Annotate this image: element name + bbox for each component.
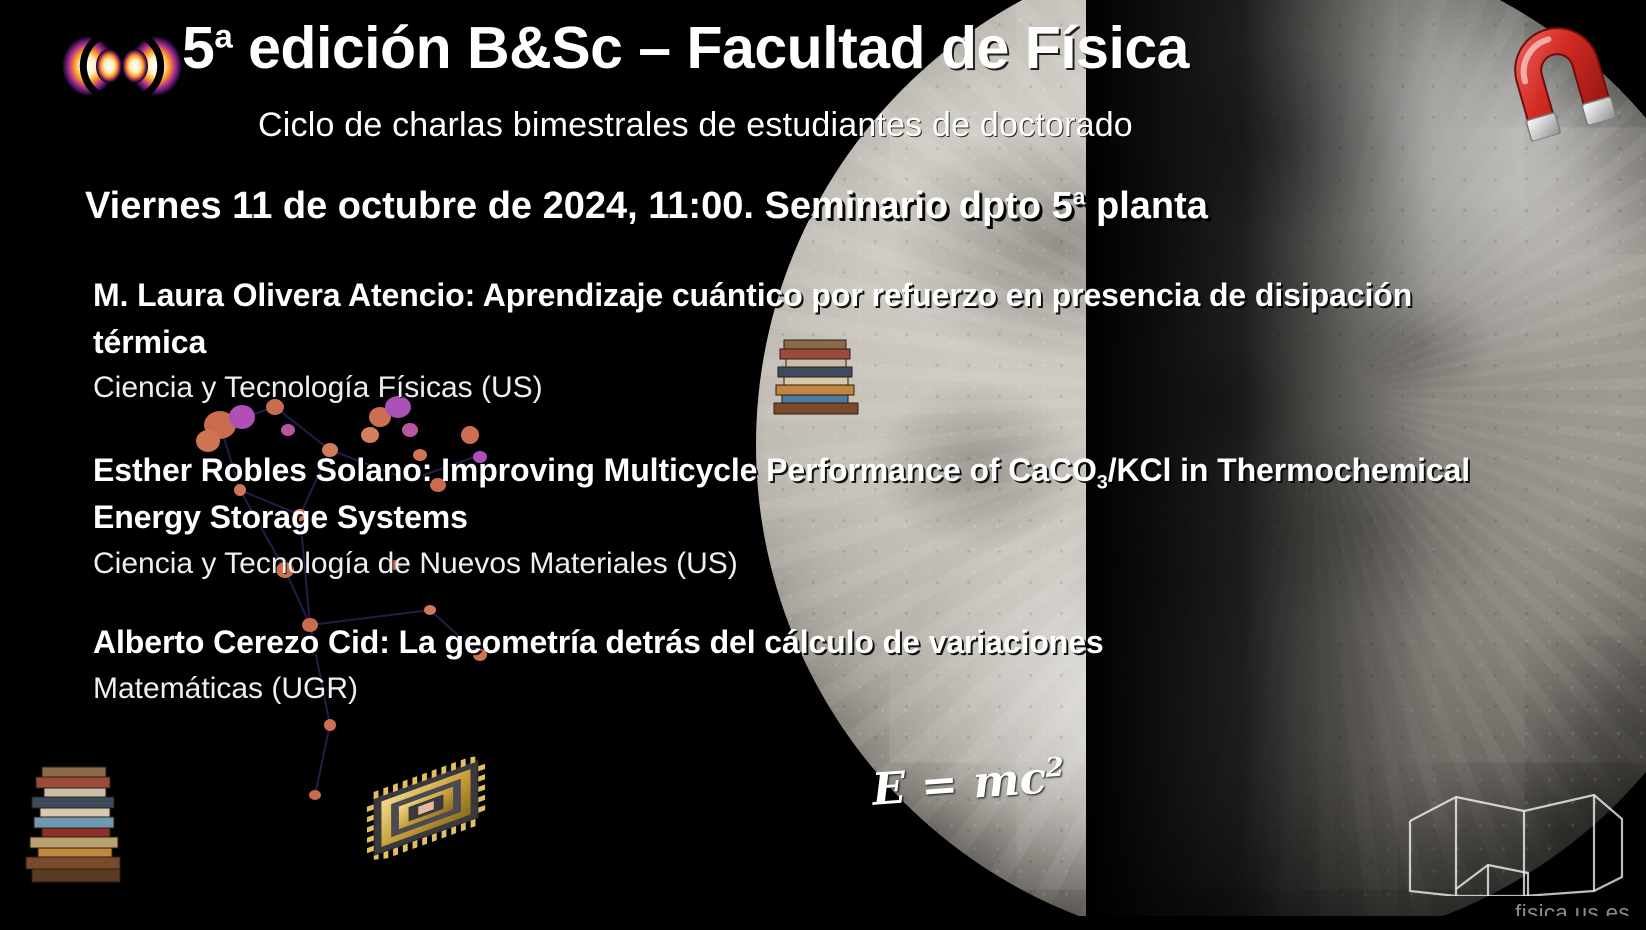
stack-of-books-icon xyxy=(770,336,866,418)
equation-rhs: mc xyxy=(971,753,1048,809)
page-title: 5a edición B&Sc – Facultad de Física xyxy=(182,17,1442,80)
page-subtitle: Ciclo de charlas bimestrales de estudian… xyxy=(258,106,1133,145)
talk-affiliation: Matemáticas (UGR) xyxy=(93,668,1513,710)
poster-canvas: 5a edición B&Sc – Facultad de Física Cic… xyxy=(0,0,1646,930)
wireframe-building-logo xyxy=(1396,781,1636,896)
einstein-equation: E = mc2 xyxy=(870,751,1066,815)
talk-entry: Esther Robles Solano: Improving Multicyc… xyxy=(93,447,1513,584)
equation-lhs: E xyxy=(870,762,907,815)
dateline-before: Viernes 11 de octubre de 2024, 11:00. Se… xyxy=(85,185,1073,227)
equation-equals: = xyxy=(904,758,975,814)
talk-entry: Alberto Cerezo Cid: La geometría detrás … xyxy=(93,619,1513,710)
orbital-glow-logo xyxy=(62,18,182,114)
equation-exponent: 2 xyxy=(1044,752,1064,784)
title-ordinal-sup: a xyxy=(214,18,232,55)
talk-title-part1: Esther Robles Solano: Improving Multicyc… xyxy=(93,452,1097,488)
status-bar xyxy=(0,916,1646,930)
dateline-ordinal-sup: a xyxy=(1073,183,1086,209)
status-bar-text xyxy=(2,920,50,929)
chemical-subscript: 3 xyxy=(1097,472,1108,494)
talk-title: Esther Robles Solano: Improving Multicyc… xyxy=(93,447,1513,540)
stack-of-books-icon xyxy=(22,765,134,885)
title-rest: edición B&Sc – Facultad de Física xyxy=(232,15,1189,81)
microchip-icon xyxy=(356,755,497,860)
talk-title: Alberto Cerezo Cid: La geometría detrás … xyxy=(93,619,1513,666)
talk-affiliation: Ciencia y Tecnología de Nuevos Materiale… xyxy=(93,543,1513,585)
dateline-after: planta xyxy=(1085,185,1207,227)
title-number: 5 xyxy=(182,15,214,81)
event-dateline: Viernes 11 de octubre de 2024, 11:00. Se… xyxy=(85,185,1208,228)
